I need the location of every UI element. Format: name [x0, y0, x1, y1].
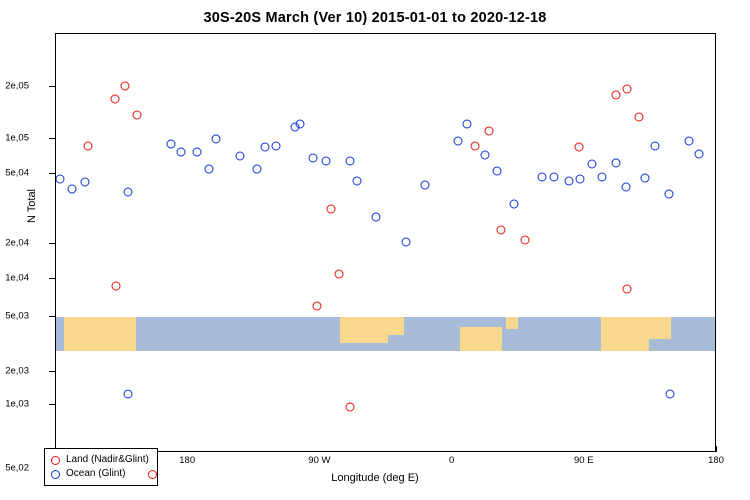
legend-item-ocean: Ocean (Glint) — [51, 467, 149, 481]
data-point-ocean — [193, 148, 202, 157]
x-tick-label: 0 — [422, 455, 482, 466]
legend: Land (Nadir&Glint) Ocean (Glint) — [44, 448, 158, 486]
x-tick-label: 180 — [157, 455, 217, 466]
data-point-ocean — [588, 160, 597, 169]
y-tick-label: 1e,05 — [0, 133, 29, 144]
data-point-ocean — [166, 140, 175, 149]
data-point-land — [132, 111, 141, 120]
data-point-land — [110, 95, 119, 104]
data-point-ocean — [598, 173, 607, 182]
y-tick-label: 2e,03 — [0, 366, 29, 377]
data-point-land — [335, 270, 344, 279]
data-point-ocean — [538, 173, 547, 182]
data-point-ocean — [641, 174, 650, 183]
x-tick-mark — [716, 446, 717, 452]
data-point-land — [112, 282, 121, 291]
data-point-ocean — [309, 154, 318, 163]
y-tick-label: 1e,03 — [0, 399, 29, 410]
data-point-ocean — [621, 183, 630, 192]
legend-item-land: Land (Nadir&Glint) — [51, 453, 149, 467]
plot-area — [55, 33, 716, 452]
data-point-land — [345, 403, 354, 412]
land-segment — [601, 317, 649, 351]
y-tick-label: 5e,03 — [0, 311, 29, 322]
data-point-ocean — [56, 175, 65, 184]
stray-land-marker-icon — [148, 470, 157, 479]
data-point-ocean — [695, 150, 704, 159]
legend-label-land: Land (Nadir&Glint) — [66, 453, 149, 467]
land-segment — [460, 327, 502, 351]
data-point-ocean — [353, 177, 362, 186]
data-point-ocean — [295, 120, 304, 129]
x-tick-label: 180 — [686, 455, 746, 466]
data-point-ocean — [454, 137, 463, 146]
data-point-ocean — [253, 165, 262, 174]
data-point-ocean — [564, 177, 573, 186]
data-point-ocean — [81, 178, 90, 187]
land-segment — [649, 317, 671, 339]
data-point-land — [623, 285, 632, 294]
data-point-ocean — [272, 142, 281, 151]
data-point-land — [121, 82, 130, 91]
data-point-land — [635, 113, 644, 122]
data-point-ocean — [235, 152, 244, 161]
y-tick-label: 1e,04 — [0, 273, 29, 284]
data-point-ocean — [345, 157, 354, 166]
data-point-land — [623, 85, 632, 94]
data-point-ocean — [685, 137, 694, 146]
data-point-land — [313, 302, 322, 311]
data-point-ocean — [492, 167, 501, 176]
legend-marker-ocean-icon — [51, 470, 60, 479]
chart-title: 30S-20S March (Ver 10) 2015-01-01 to 202… — [0, 10, 750, 26]
x-tick-label: 90 E — [554, 455, 614, 466]
y-tick-label: 5e,04 — [0, 168, 29, 179]
data-point-ocean — [68, 185, 77, 194]
legend-marker-land-icon — [51, 456, 60, 465]
data-point-land — [485, 127, 494, 136]
data-point-ocean — [611, 159, 620, 168]
surface-band — [56, 317, 715, 351]
data-point-ocean — [401, 238, 410, 247]
data-point-land — [84, 142, 93, 151]
land-segment — [386, 317, 404, 335]
data-point-ocean — [123, 188, 132, 197]
data-point-ocean — [480, 151, 489, 160]
legend-label-ocean: Ocean (Glint) — [66, 467, 125, 481]
data-point-land — [574, 143, 583, 152]
data-point-ocean — [510, 200, 519, 209]
land-segment — [126, 317, 136, 339]
y-tick-label: 2e,04 — [0, 238, 29, 249]
data-point-ocean — [260, 143, 269, 152]
x-tick-label: 90 W — [289, 455, 349, 466]
data-point-ocean — [463, 120, 472, 129]
land-segment — [340, 317, 388, 343]
data-point-ocean — [664, 190, 673, 199]
chart-root: 30S-20S March (Ver 10) 2015-01-01 to 202… — [0, 0, 750, 500]
data-point-ocean — [123, 390, 132, 399]
data-point-ocean — [576, 175, 585, 184]
data-point-ocean — [420, 181, 429, 190]
data-point-land — [520, 236, 529, 245]
data-point-land — [326, 205, 335, 214]
data-point-ocean — [176, 148, 185, 157]
data-point-ocean — [549, 173, 558, 182]
data-point-land — [470, 142, 479, 151]
data-point-land — [497, 226, 506, 235]
data-point-ocean — [651, 142, 660, 151]
y-tick-label: 2e,05 — [0, 81, 29, 92]
data-point-ocean — [212, 135, 221, 144]
data-point-land — [611, 91, 620, 100]
data-point-ocean — [204, 165, 213, 174]
data-point-ocean — [372, 213, 381, 222]
land-segment — [506, 317, 518, 329]
data-point-ocean — [665, 390, 674, 399]
data-point-ocean — [322, 157, 331, 166]
